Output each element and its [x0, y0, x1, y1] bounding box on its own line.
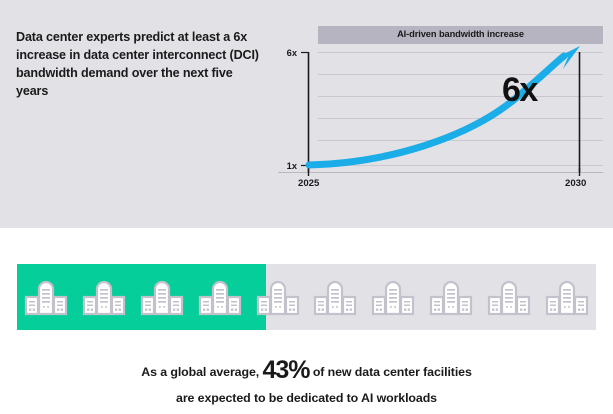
data-center-building-icon	[480, 277, 538, 317]
data-center-building-icon	[538, 277, 596, 317]
x-axis-label-2025: 2025	[298, 178, 319, 189]
caption-before: As a global average,	[141, 365, 259, 379]
caption-after: of new data center facilities	[313, 365, 472, 379]
caption: As a global average, 43% of new data cen…	[0, 352, 613, 407]
data-center-building-icon	[422, 277, 480, 317]
data-center-building-icon	[364, 277, 422, 317]
data-center-progress-strip	[17, 264, 596, 330]
top-panel: Data center experts predict at least a 6…	[0, 0, 613, 228]
caption-line2: are expected to be dedicated to AI workl…	[176, 391, 437, 405]
data-center-icon-row	[17, 264, 596, 330]
chart-banner-label: AI-driven bandwidth increase	[318, 29, 603, 39]
data-center-building-icon	[133, 277, 191, 317]
caption-percent: 43%	[262, 356, 309, 384]
gridlines	[318, 53, 603, 166]
data-center-building-icon	[249, 277, 307, 317]
data-center-building-icon	[17, 277, 75, 317]
headline-text: Data center experts predict at least a 6…	[16, 29, 268, 101]
data-center-building-icon	[191, 277, 249, 317]
bandwidth-growth-chart: AI-driven bandwidth increase 6x 1x 2025 …	[268, 26, 603, 196]
y-axis-label-6x: 6x	[271, 48, 297, 58]
growth-annotation-6x: 6x	[502, 71, 537, 110]
data-center-building-icon	[75, 277, 133, 317]
chart-canvas	[268, 26, 603, 196]
data-center-building-icon	[306, 277, 364, 317]
x-axis-label-2030: 2030	[565, 178, 586, 189]
growth-arrowhead	[556, 46, 580, 69]
y-axis-label-1x: 1x	[271, 161, 297, 171]
